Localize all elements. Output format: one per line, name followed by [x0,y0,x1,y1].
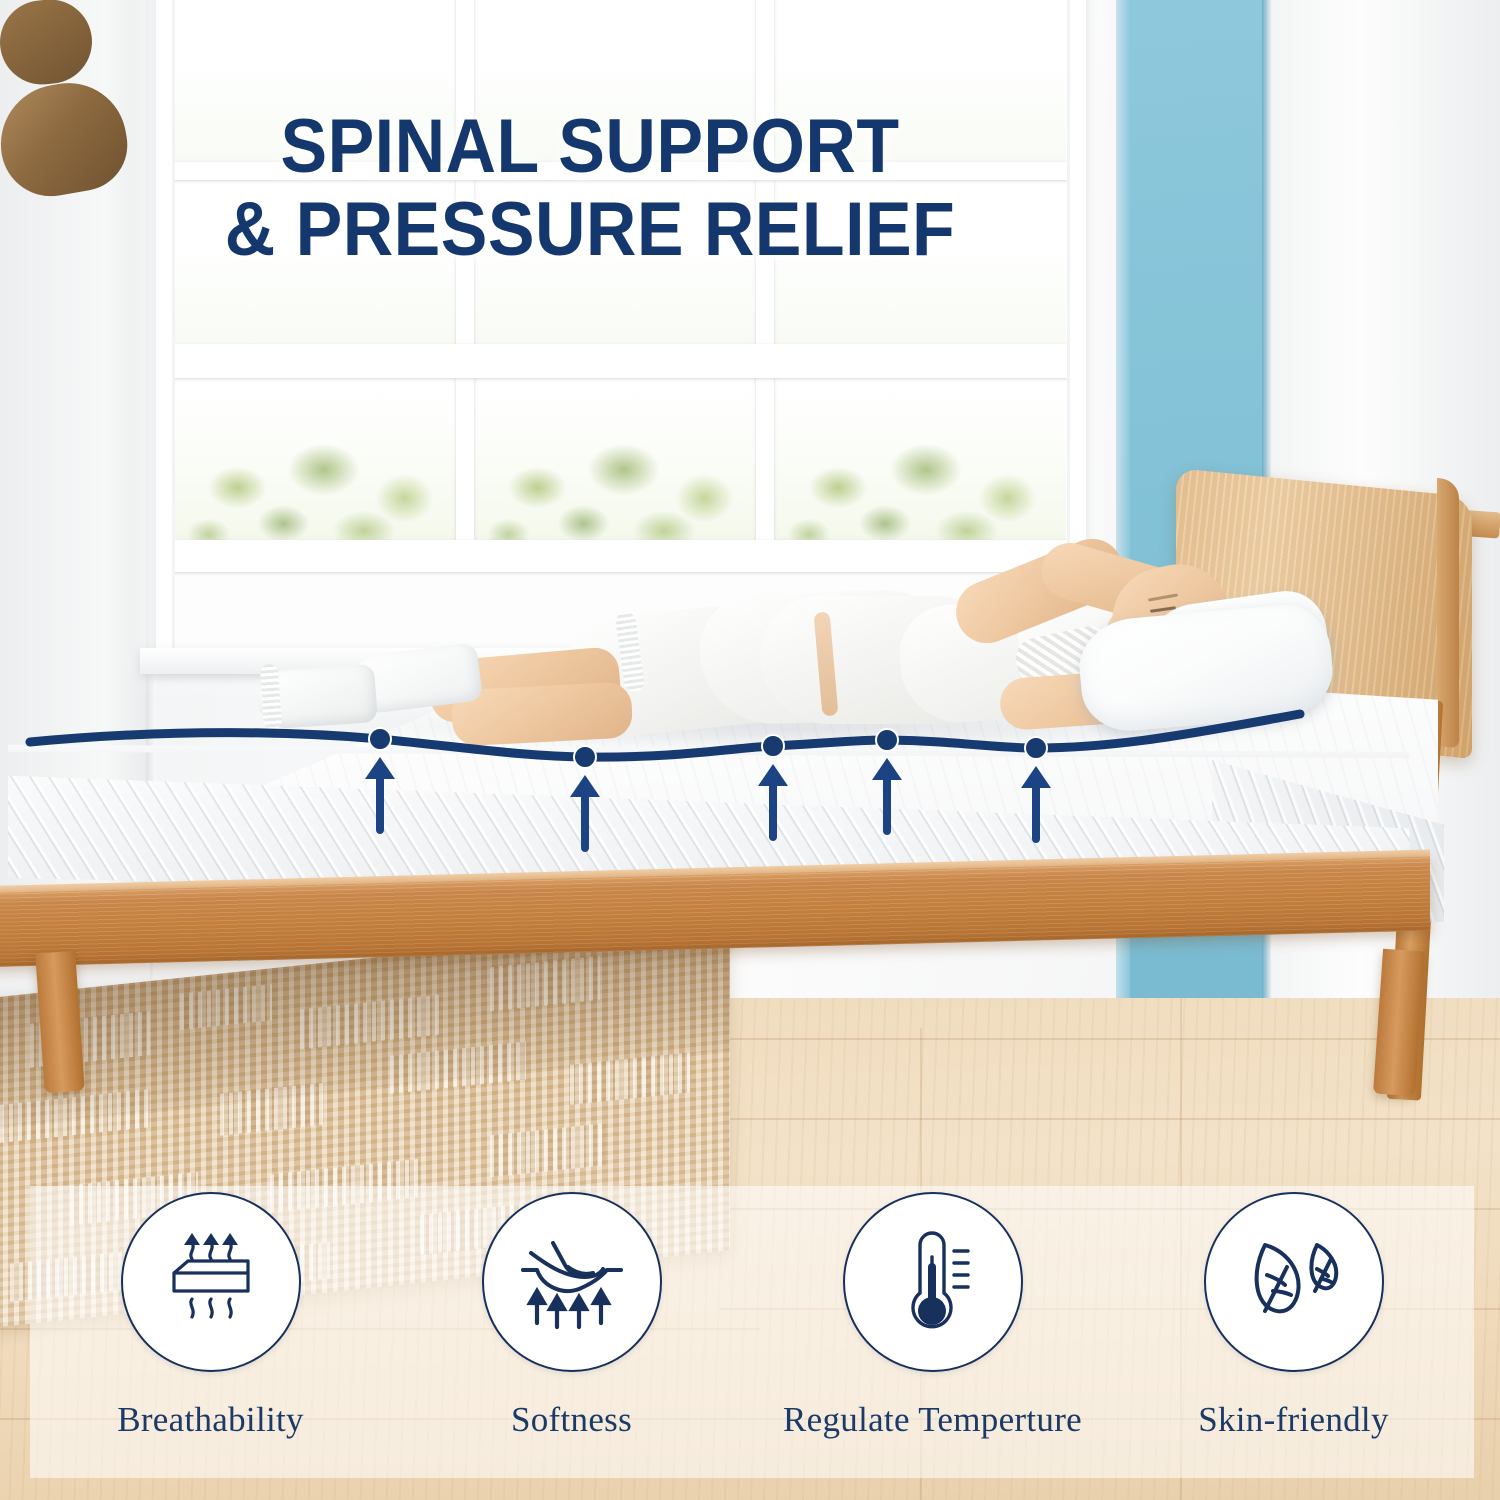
page-title: SPINAL SUPPORT & PRESSURE RELIEF [47,106,1133,272]
feature-label: Softness [511,1400,632,1440]
feature-icon-circle [121,1192,301,1372]
feature-icon-circle [843,1192,1023,1372]
feature-icon-circle [1204,1192,1384,1372]
spinal-alignment-overlay [0,690,1500,870]
feature-breathability[interactable]: Breathability [30,1186,391,1440]
headline-line-1: SPINAL SUPPORT [280,104,899,189]
feature-panel: Breathability [30,1186,1474,1478]
spine-curve-line [30,714,1300,757]
spine-dot [369,728,391,750]
feature-label: Skin-friendly [1198,1400,1389,1440]
leaves-icon [1235,1223,1353,1341]
spine-dot [762,735,784,757]
feature-icon-circle [482,1192,662,1372]
feature-skin-friendly[interactable]: Skin-friendly [1113,1186,1474,1440]
spine-arrow-head [758,764,788,786]
feature-softness[interactable]: Softness [391,1186,752,1440]
window [156,0,1086,670]
spine-arrow-head [570,775,600,797]
spine-dot [876,729,898,751]
spine-dot [574,746,596,768]
spine-support-arrows [365,757,1051,848]
spine-arrow-head [365,757,395,779]
spine-dot [1025,737,1047,759]
softness-icon [513,1223,631,1341]
headline-line-2: & PRESSURE RELIEF [47,189,1133,272]
spine-arrow-head [1021,766,1051,788]
feature-regulate-temperature[interactable]: Regulate Temperture [752,1186,1113,1440]
feature-label: Regulate Temperture [783,1400,1082,1440]
breathability-icon [152,1223,270,1341]
spine-arrow-head [872,758,902,780]
feature-label: Breathability [117,1400,304,1440]
product-feature-image: SPINAL SUPPORT & PRESSURE RELIEF [0,0,1500,1500]
thermometer-icon [874,1223,992,1341]
